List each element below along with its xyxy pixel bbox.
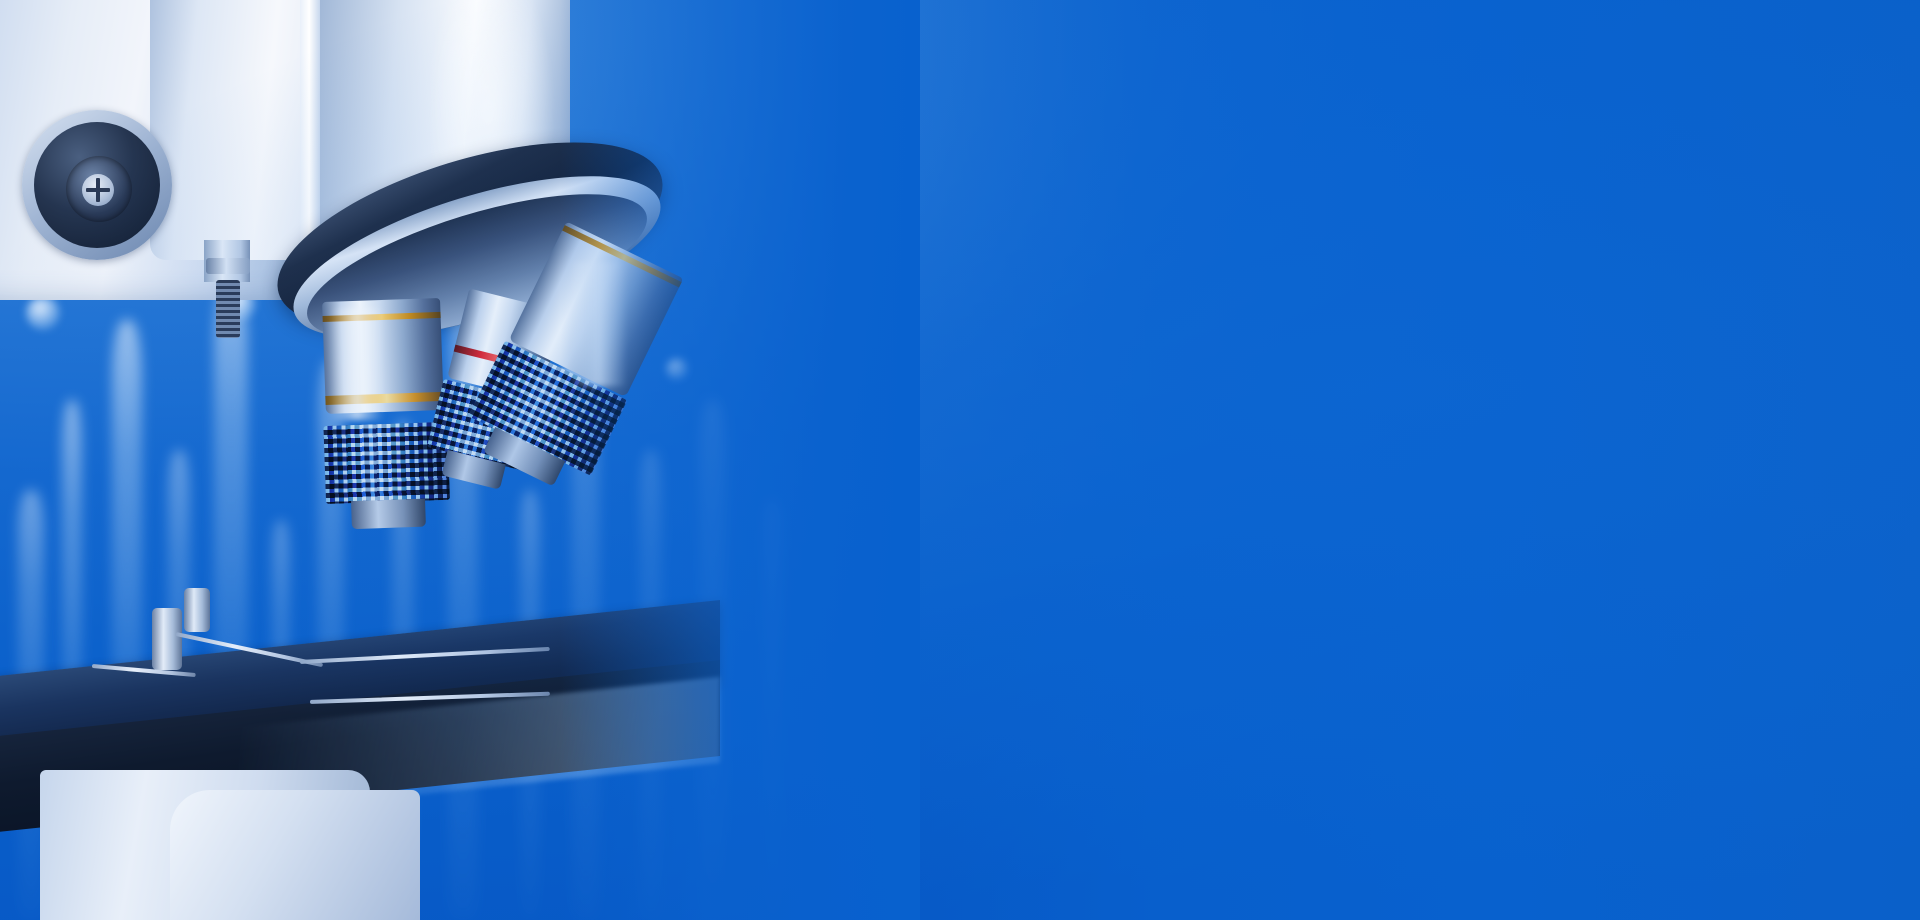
background-vignette xyxy=(0,0,1920,920)
hero-banner: 追踪高效太阳能电池技术发展趋势 提供定制化激光解决方案 TRACKING THE… xyxy=(0,0,1920,920)
